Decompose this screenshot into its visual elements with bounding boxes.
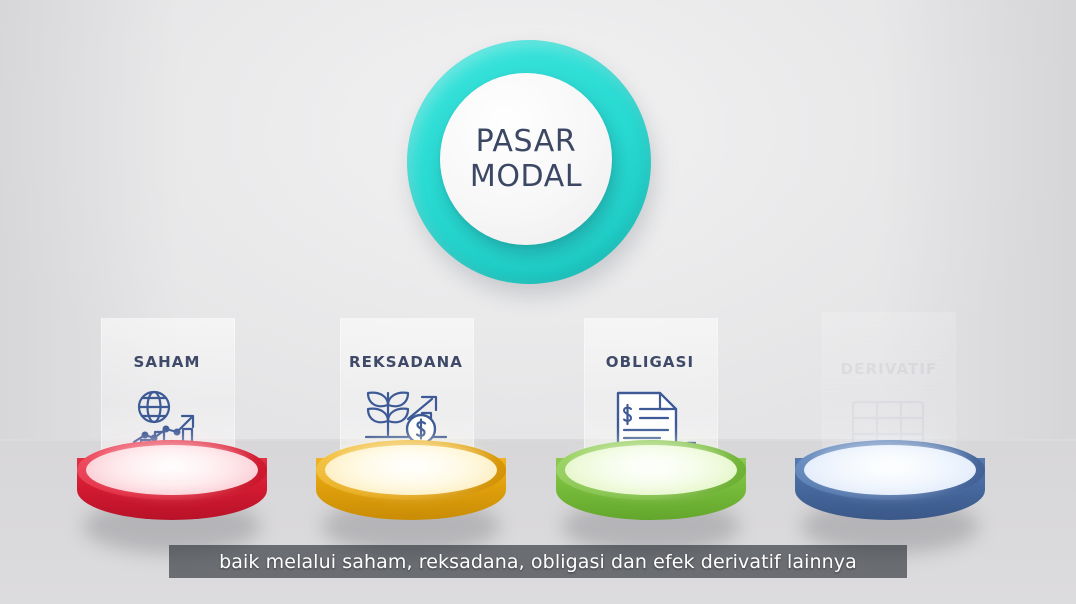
- emblem-inner-disc: PASAR MODAL: [440, 73, 612, 245]
- card-label-derivatif: DERIVATIF: [816, 360, 962, 378]
- scene: PASAR MODAL SAHAM: [0, 0, 1076, 604]
- pedestal-glow: [95, 436, 249, 494]
- pedestal-glow: [334, 436, 488, 494]
- pedestal-obligasi: [556, 440, 746, 550]
- emblem-title-line1: PASAR: [470, 124, 582, 159]
- emblem-title-line2: MODAL: [470, 159, 582, 194]
- card-label-saham: SAHAM: [101, 353, 233, 371]
- pedestal-derivatif: [795, 440, 985, 550]
- subtitle-bar: baik melalui saham, reksadana, obligasi …: [169, 545, 907, 578]
- pedestal-glow: [574, 436, 728, 494]
- emblem-title: PASAR MODAL: [470, 124, 582, 195]
- subtitle-text: baik melalui saham, reksadana, obligasi …: [219, 551, 857, 573]
- pasar-modal-emblem: PASAR MODAL: [407, 40, 657, 290]
- wall-shade-left: [0, 0, 180, 441]
- pedestal-glow: [813, 436, 967, 494]
- pedestal-reksadana: [316, 440, 506, 550]
- card-label-obligasi: OBLIGASI: [576, 353, 724, 371]
- pedestal-saham: [77, 440, 267, 550]
- card-label-reksadana: REKSADANA: [327, 353, 485, 371]
